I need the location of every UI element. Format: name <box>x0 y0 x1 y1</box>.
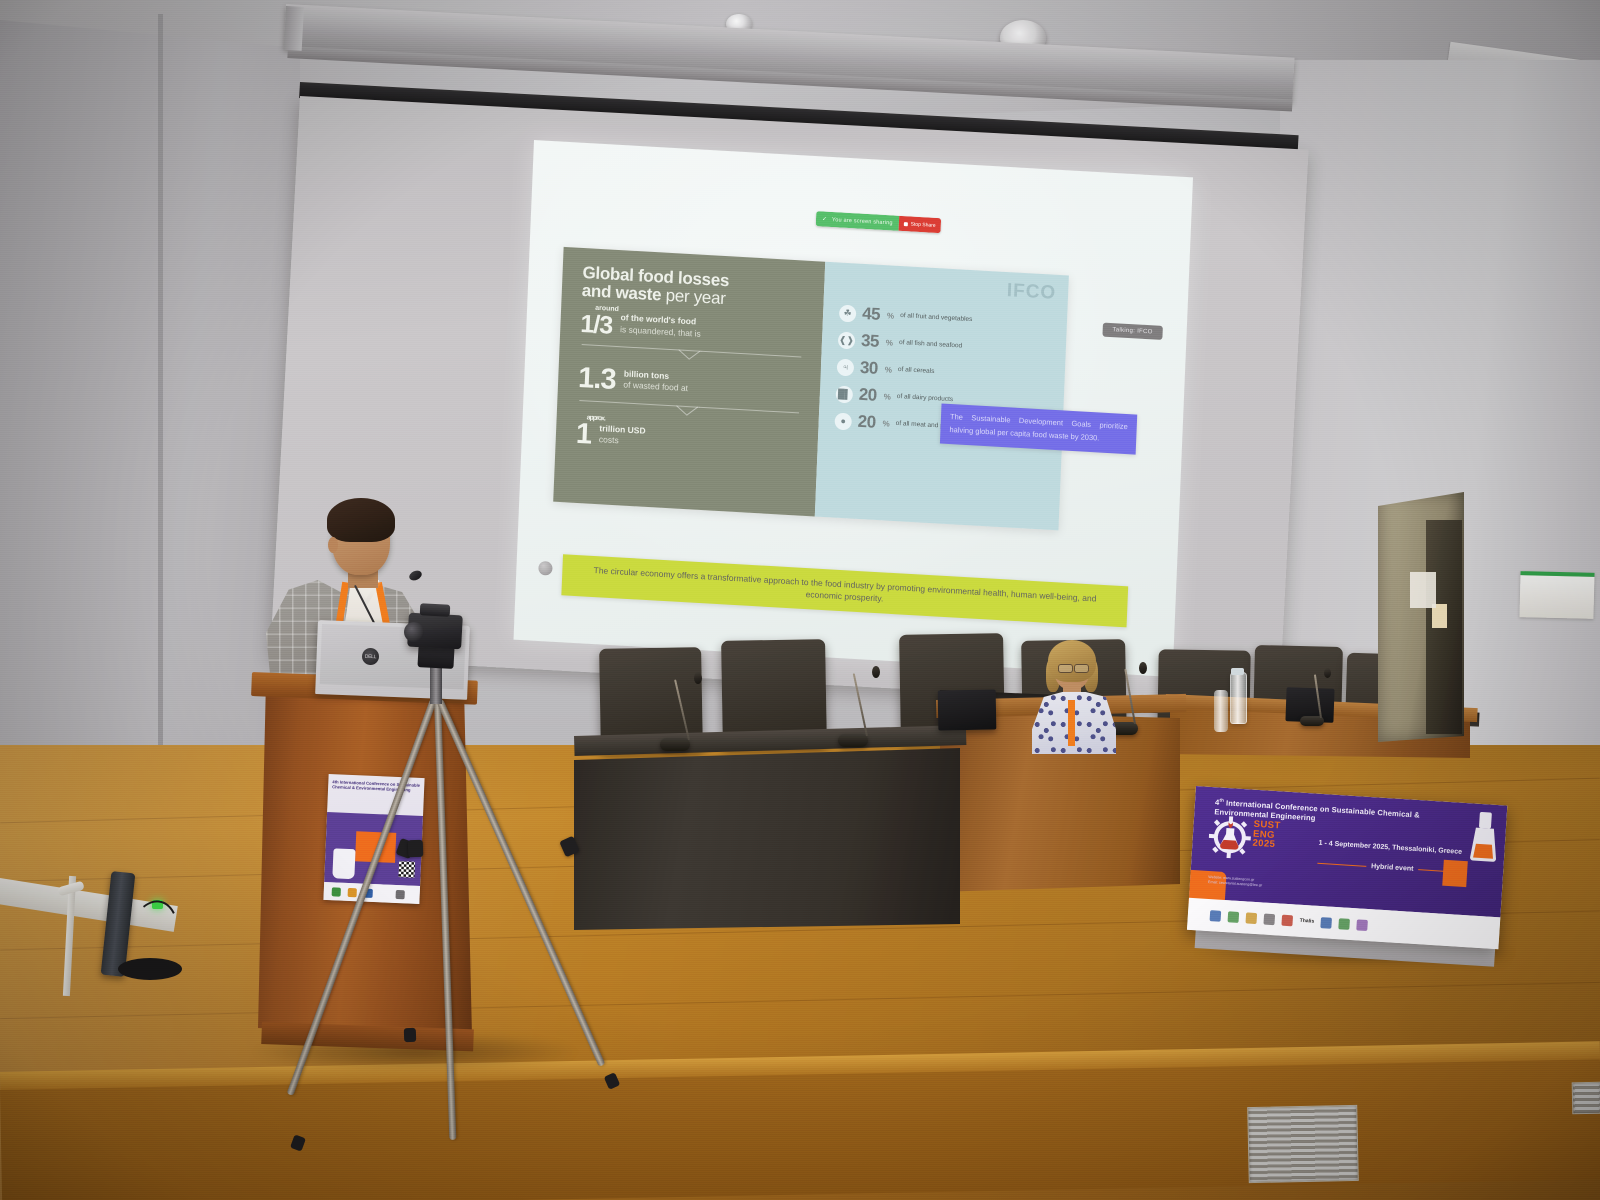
sponsor-logo-2 <box>1228 911 1240 923</box>
percent-value-dairy: 20 <box>858 385 877 406</box>
stat-label-usd: trillion USD costs <box>599 423 646 451</box>
infographic-right-panel: IFCO ☘ 45 % of all fruit and vegetables … <box>815 262 1069 531</box>
floor-vent-grille-1 <box>1247 1105 1359 1183</box>
panel-chair-hair <box>1048 640 1096 682</box>
percent-label-dairy: of all dairy products <box>897 393 954 404</box>
stop-share-button[interactable]: Stop Share <box>898 216 941 233</box>
percent-symbol-meat: % <box>882 419 889 428</box>
tripod-clamp-center[interactable] <box>408 840 424 858</box>
tripod-center-column <box>430 664 442 704</box>
percent-symbol-cereal: % <box>885 365 892 374</box>
sponsor-logo-8 <box>1357 919 1369 931</box>
infographic-title-thin: per year <box>661 285 726 308</box>
banner-rule-right <box>1418 869 1467 873</box>
wall-poster <box>1410 572 1436 608</box>
fish-icon: ❰❱ <box>838 331 856 349</box>
percent-label-fish: of all fish and seafood <box>899 339 962 351</box>
screen-sharing-label: You are screen sharing <box>832 217 893 226</box>
stat-number-one: 1 <box>575 418 591 451</box>
sponsor-logo-d <box>396 890 405 899</box>
percent-symbol-fruit: % <box>887 311 894 320</box>
sponsor-logo-a <box>332 887 341 896</box>
panel-monitor-1 <box>938 689 997 730</box>
percent-row-cereal: ♃ 30 % of all cereals <box>837 357 1053 389</box>
percent-label-cereal: of all cereals <box>898 366 935 376</box>
camera-lens-icon <box>404 622 424 642</box>
percent-label-fruit: of all fruit and vegetables <box>900 312 973 324</box>
desk-microphone-base-1 <box>660 738 690 751</box>
glasses-icon-right <box>1074 664 1089 673</box>
stat-label-fraction: of the world's food is squandered, that … <box>620 312 702 341</box>
banner-acronym-line3: 2025 <box>1252 839 1279 850</box>
stat-row-fraction: around 1/3 of the world's food is squand… <box>580 310 807 348</box>
notice-board <box>1519 571 1594 619</box>
zoom-share-bar[interactable]: ✓ You are screen sharing Stop Share <box>816 211 941 233</box>
stat-label-tons: billion tons of wasted food at <box>623 368 689 397</box>
sponsor-logo-1 <box>1210 910 1222 922</box>
water-bottle-1 <box>1230 672 1247 724</box>
podium-poster: 4th International Conference on Sustaina… <box>323 774 424 904</box>
sponsor-name-thalis: Thalis <box>1300 918 1315 925</box>
meat-icon: ● <box>834 412 852 430</box>
infographic-left-panel: Global food losses and waste per year ar… <box>553 247 825 517</box>
percent-value-fish: 35 <box>861 331 880 352</box>
dairy-icon: █▌ <box>836 385 854 403</box>
screen-roller-end-cap <box>284 6 304 51</box>
stat-number-one-third: 1/3 <box>580 310 613 340</box>
projected-slide: ✓ You are screen sharing Stop Share Talk… <box>513 140 1193 677</box>
percent-value-cereal: 30 <box>860 358 879 379</box>
stat-value-fraction: around 1/3 <box>580 314 613 336</box>
screen-sharing-status: ✓ You are screen sharing <box>816 211 899 231</box>
stat-label-rest-3: costs <box>599 435 619 446</box>
conference-photo-scene: ✓ You are screen sharing Stop Share Talk… <box>0 0 1600 1200</box>
speaker-hair <box>327 498 395 542</box>
sponsor-logo-b <box>348 888 357 897</box>
panel-chair-lanyard <box>1068 700 1075 746</box>
stat-value-usd: approx. 1 <box>575 423 591 448</box>
sponsor-logo-3 <box>1246 912 1258 924</box>
tripod-foot-center <box>404 1028 416 1042</box>
chevron-down-icon-1 <box>678 349 700 360</box>
sponsor-logo-5 <box>1281 914 1293 926</box>
bullet-dot-icon <box>538 561 553 576</box>
percent-value-meat: 20 <box>857 412 876 433</box>
chevron-down-icon-2 <box>676 405 698 416</box>
microphone-icon-2 <box>872 666 880 678</box>
water-bottle-cap <box>1231 668 1244 675</box>
percent-symbol-fish: % <box>886 338 893 347</box>
sponsor-logo-7 <box>1339 918 1351 930</box>
percent-row-fish: ❰❱ 35 % of all fish and seafood <box>838 330 1054 362</box>
circular-economy-banner: The circular economy offers a transforma… <box>561 554 1128 627</box>
microphone-icon-3 <box>1139 662 1147 674</box>
flask-icon <box>332 848 355 879</box>
desk-microphone-base-2 <box>838 734 868 747</box>
gear-flask-logo-icon <box>1208 815 1253 860</box>
ifco-logo: IFCO <box>1006 280 1056 305</box>
stop-square-icon <box>904 222 908 226</box>
check-icon: ✓ <box>822 216 828 222</box>
microphone-icon-4 <box>1324 668 1331 678</box>
banner-acronym: SUST ENG 2025 <box>1252 820 1281 851</box>
percent-value-fruit: 45 <box>862 304 881 325</box>
panel-desk-left <box>574 748 960 930</box>
glasses-icon-left <box>1058 664 1073 673</box>
fruit-bowl-icon: ☘ <box>839 304 857 322</box>
floor-vent-grille-2 <box>1572 1082 1600 1115</box>
infographic-card: Global food losses and waste per year ar… <box>553 247 1069 530</box>
stat-label-rest-2: of wasted food at <box>623 380 688 394</box>
speaker-ear <box>328 537 338 553</box>
microphone-icon-1 <box>694 672 702 684</box>
stop-share-label: Stop Share <box>911 221 936 228</box>
percent-row-fruit: ☘ 45 % of all fruit and vegetables <box>839 303 1055 335</box>
percent-symbol-dairy: % <box>884 392 891 401</box>
talking-label: Talking: IFCO <box>1102 323 1163 340</box>
banner-rule-left <box>1317 863 1366 867</box>
sponsor-logo-6 <box>1321 917 1333 929</box>
cereal-icon: ♃ <box>837 358 855 376</box>
water-bottle-2 <box>1214 690 1228 732</box>
stat-value-tons: 1.3 <box>578 367 616 393</box>
conference-banner: 4th International Conference on Sustaina… <box>1187 786 1507 949</box>
stat-divider-2 <box>579 400 799 424</box>
qr-code-icon <box>398 861 415 878</box>
stat-row-tons: 1.3 billion tons of wasted food at <box>578 366 805 404</box>
stat-row-usd: approx. 1 trillion USD costs <box>575 422 802 460</box>
stat-superscript-approx: approx. <box>587 415 606 422</box>
banner-flask-graphic <box>1468 809 1501 863</box>
sponsor-logo-4 <box>1263 913 1275 925</box>
infographic-title-bold: and waste <box>581 281 661 304</box>
camera-top-handle <box>420 603 451 617</box>
